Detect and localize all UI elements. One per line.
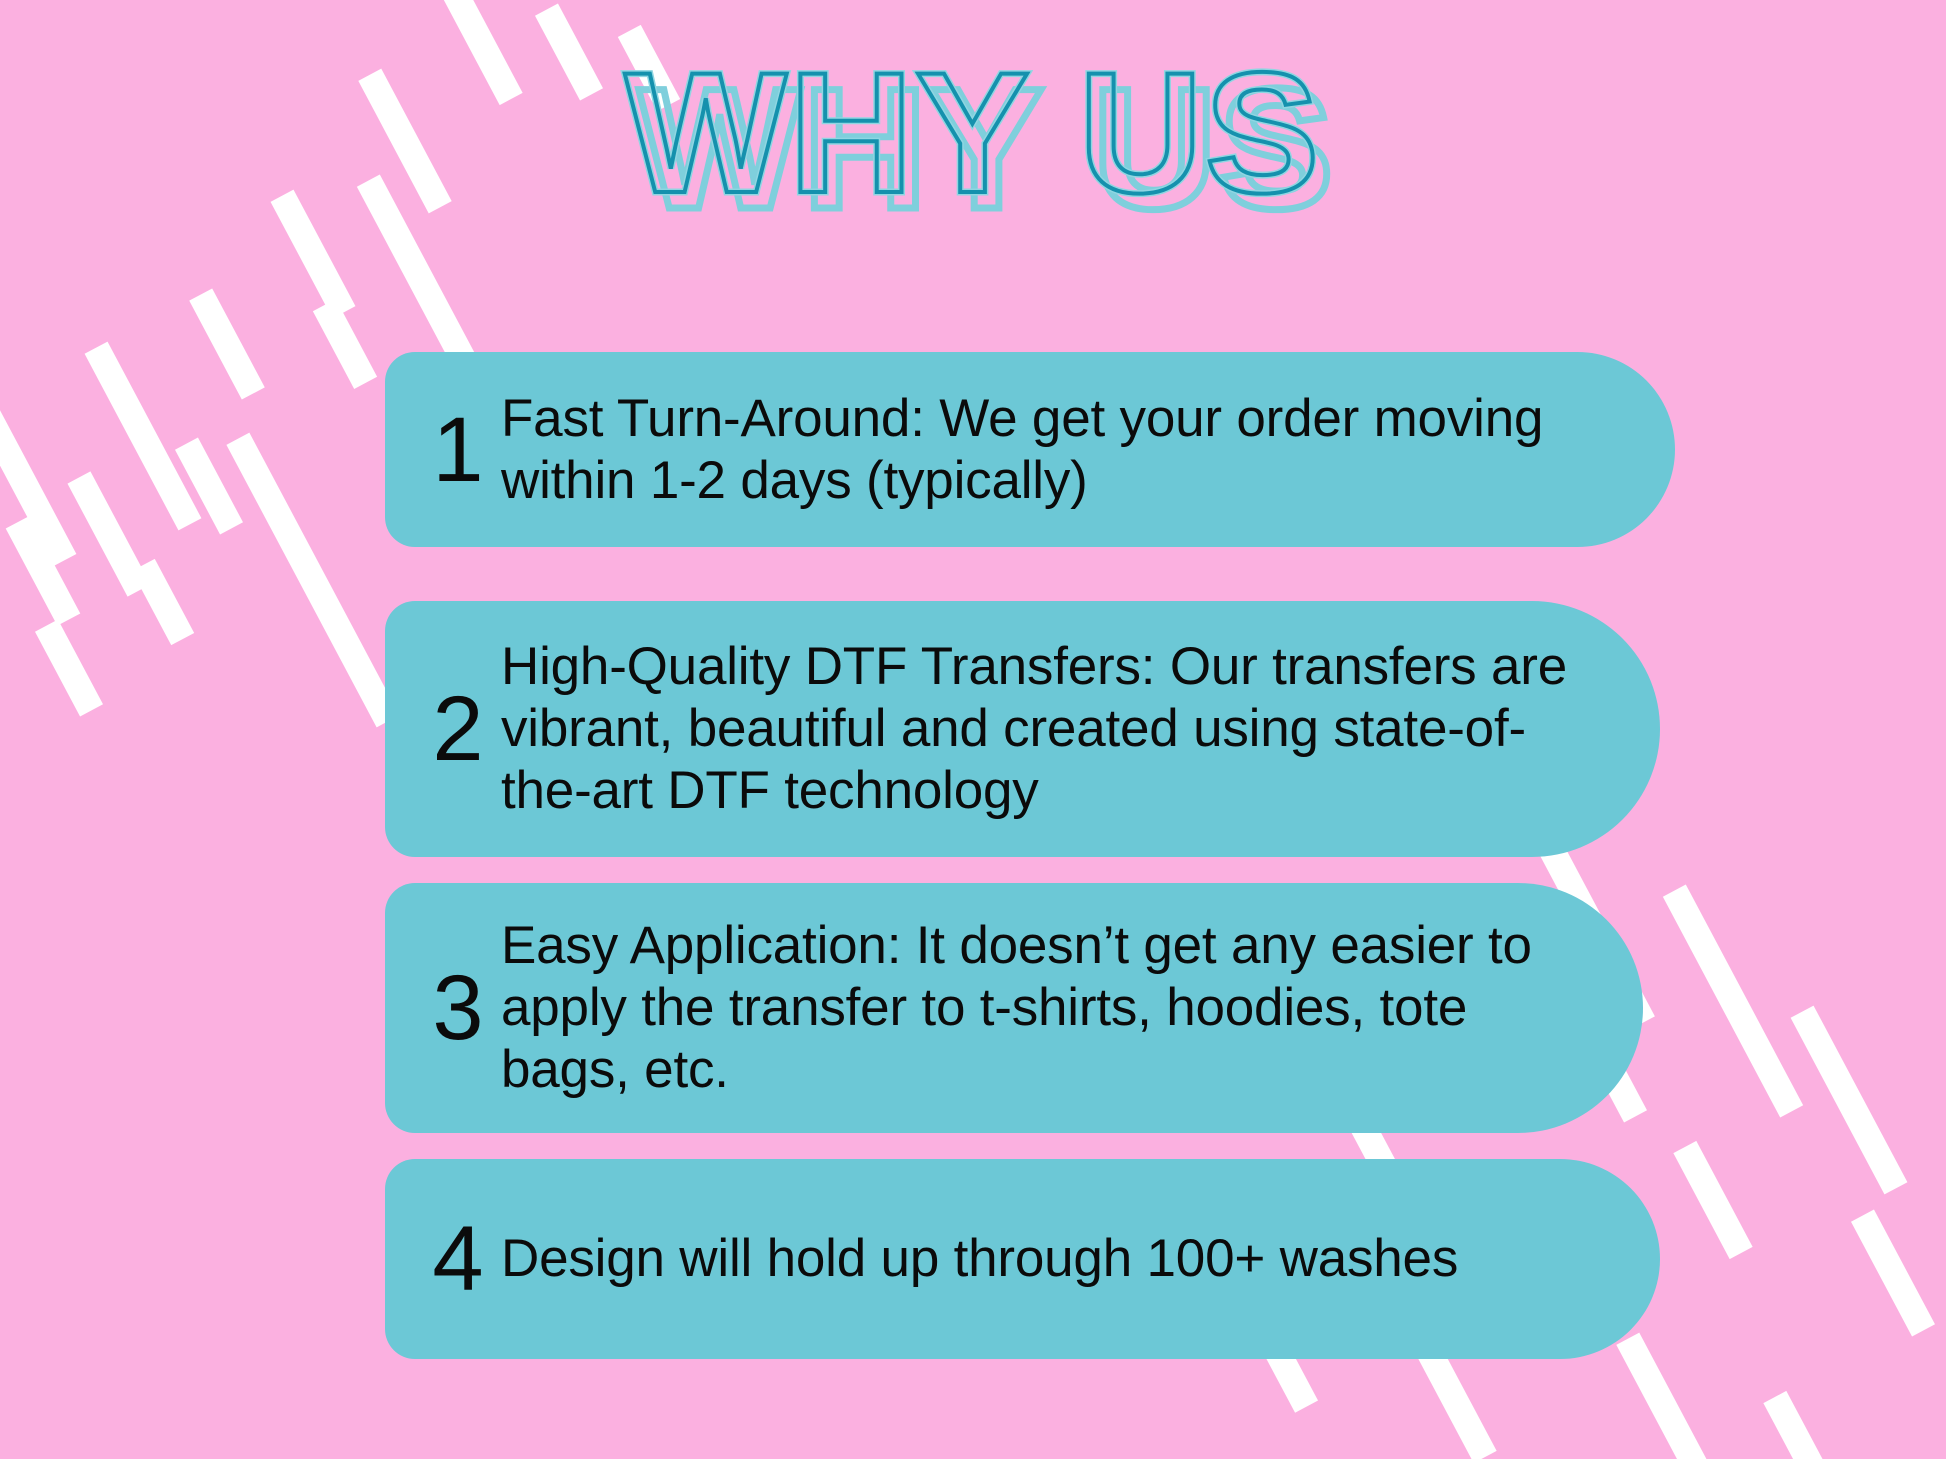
- list-item-number: 2: [415, 683, 501, 775]
- list-item-text: Easy Application: It doesn’t get any eas…: [501, 915, 1595, 1101]
- list-item: 2 High-Quality DTF Transfers: Our transf…: [385, 601, 1660, 857]
- page-title: WHY US WHY US WHY US: [0, 46, 1946, 246]
- list-item-text: Design will hold up through 100+ washes: [501, 1228, 1612, 1290]
- decorative-dash: [1763, 1391, 1842, 1459]
- decorative-dash: [1417, 1345, 1496, 1459]
- poster-canvas: WHY US WHY US WHY US 1 Fast Turn-Around:…: [0, 0, 1946, 1459]
- benefits-list: 1 Fast Turn-Around: We get your order mo…: [0, 352, 1946, 1359]
- list-item-text: Fast Turn-Around: We get your order movi…: [501, 388, 1627, 512]
- list-item-number: 4: [415, 1213, 501, 1305]
- title-outline-layer: WHY US: [0, 46, 1946, 221]
- list-item: 4 Design will hold up through 100+ washe…: [385, 1159, 1660, 1359]
- list-item-number: 3: [415, 962, 501, 1054]
- list-item: 3 Easy Application: It doesn’t get any e…: [385, 883, 1643, 1133]
- list-item: 1 Fast Turn-Around: We get your order mo…: [385, 352, 1675, 547]
- list-item-text: High-Quality DTF Transfers: Our transfer…: [501, 636, 1612, 822]
- list-item-number: 1: [415, 404, 501, 496]
